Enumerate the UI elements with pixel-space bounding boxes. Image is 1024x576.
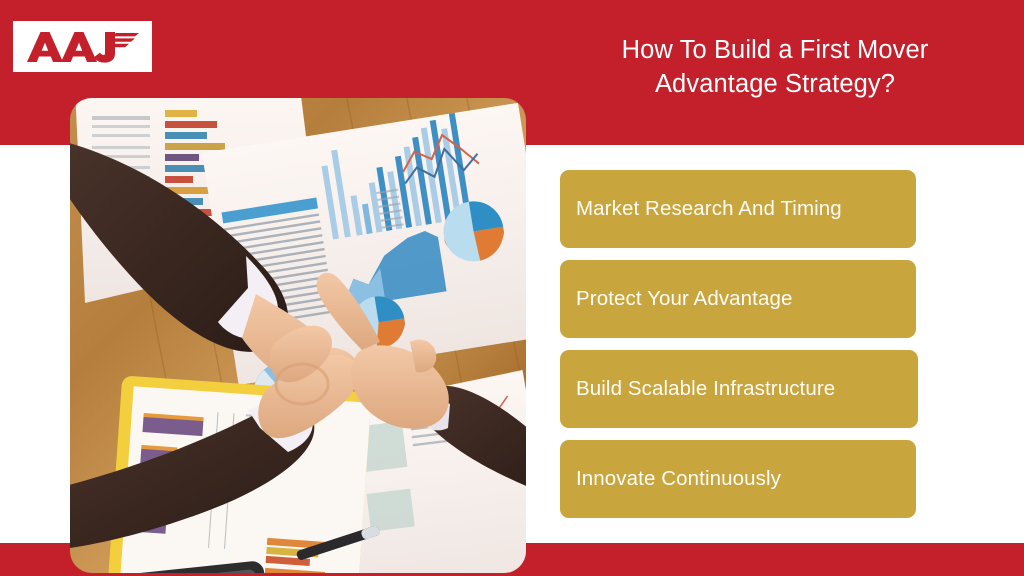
list-item-label: Protect Your Advantage — [576, 287, 792, 311]
aaj-logo-mark — [23, 29, 143, 65]
slide-root: How To Build a First Mover Advantage Str… — [0, 0, 1024, 576]
aaj-logo[interactable] — [13, 21, 152, 72]
list-item-label: Build Scalable Infrastructure — [576, 377, 835, 401]
page-title-line-2: Advantage Strategy? — [560, 67, 990, 101]
hero-photo-illustration: MONTHLY SALES FORECAST — [70, 98, 526, 573]
hero-photo: MONTHLY SALES FORECAST — [70, 98, 526, 573]
list-item-label: Market Research And Timing — [576, 197, 842, 221]
list-item[interactable]: Market Research And Timing — [560, 170, 916, 248]
list-item[interactable]: Protect Your Advantage — [560, 260, 916, 338]
page-title: How To Build a First Mover Advantage Str… — [560, 33, 990, 101]
key-points-list: Market Research And Timing Protect Your … — [560, 170, 916, 518]
list-item-label: Innovate Continuously — [576, 467, 781, 491]
list-item[interactable]: Build Scalable Infrastructure — [560, 350, 918, 428]
list-item[interactable]: Innovate Continuously — [560, 440, 916, 518]
page-title-line-1: How To Build a First Mover — [560, 33, 990, 67]
